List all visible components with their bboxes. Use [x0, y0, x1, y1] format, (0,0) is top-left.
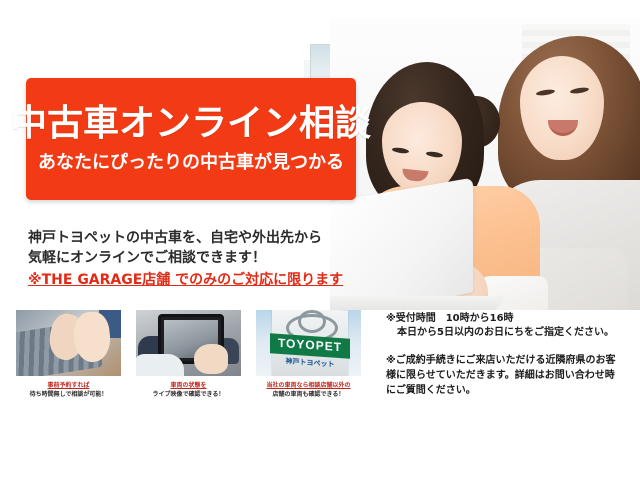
note-policy-line-3: にご質問ください。	[386, 383, 630, 398]
feature-item-other-stores: TOYOPET 神戸トヨペット 当社の車両なら相談店舗以外の 店舗の車両も確認で…	[256, 310, 361, 399]
staff-arm	[136, 354, 184, 376]
staff-hand	[194, 344, 228, 374]
feature-item-reservation: 事前予約すれば 待ち時間無しで相談が可能！	[16, 310, 121, 399]
feature-item-live-video: 車両の状態を ライブ映像で確認できる！	[136, 310, 241, 399]
feature-caption-other-stores: 当社の車両なら相談店舗以外の 店舗の車両も確認できる！	[256, 381, 361, 399]
feature-caption-bottom: 店舗の車両も確認できる！	[256, 390, 361, 399]
description-line-2: 気軽にオンラインでご相談できます！	[28, 248, 348, 268]
description-block: 神戸トヨペットの中古車を、自宅や外出先から 気軽にオンラインでご相談できます！ …	[28, 228, 348, 291]
advertisement-page: 中古車オンライン相談 あなたにぴったりの中古車が見つかる 神戸トヨペットの中古車…	[0, 0, 640, 480]
feature-caption-top: 車両の状態を	[136, 381, 241, 390]
headline-banner: 中古車オンライン相談 あなたにぴったりの中古車が見つかる	[26, 78, 356, 200]
hero-photo-girl-and-woman-with-laptop	[330, 18, 640, 310]
note-hours-line-2: 本日から5日以内のお日にちをご指定ください。	[386, 326, 630, 340]
feature-caption-bottom: ライブ映像で確認できる！	[136, 390, 241, 399]
feature-caption-reservation: 事前予約すれば 待ち時間無しで相談が可能！	[16, 381, 121, 399]
note-policy-line-1: ※ご成約手続きにご来店いただける近隣府県のお客	[386, 353, 630, 368]
feature-caption-bottom: 待ち時間無しで相談が可能！	[16, 390, 121, 399]
banner-subtitle: あなたにぴったりの中古車が見つかる	[38, 154, 344, 172]
banner-title: 中古車オンライン相談	[11, 106, 371, 142]
woman-face	[520, 56, 604, 160]
feature-thumbnail-list: 事前予約すれば 待ち時間無しで相談が可能！ 車両の状態を ライブ映像で確認できる…	[16, 310, 362, 399]
feature-image-toyopet-sign: TOYOPET 神戸トヨペット	[256, 310, 361, 376]
notes-block: ※受付時間 10時から16時 本日から5日以内のお日にちをご指定ください。 ※ご…	[386, 312, 630, 398]
note-policy: ※ご成約手続きにご来店いただける近隣府県のお客 様に限らせていただきます。詳細は…	[386, 353, 630, 398]
description-restriction-note: ※THE GARAGE店舗 でのみのご対応に限ります	[28, 269, 348, 291]
feature-caption-top: 当社の車両なら相談店舗以外の	[256, 381, 361, 390]
description-line-1: 神戸トヨペットの中古車を、自宅や外出先から	[28, 228, 348, 248]
feature-image-tablet-cars	[136, 310, 241, 376]
note-policy-line-2: 様に限らせていただきます。詳細はお問い合わせ時	[386, 368, 630, 383]
note-hours-line-1: ※受付時間 10時から16時	[386, 312, 630, 326]
toyota-logo-inner-icon	[298, 310, 326, 333]
feature-caption-top: 事前予約すれば	[16, 381, 121, 390]
laptop-base	[330, 296, 506, 310]
feature-caption-live-video: 車両の状態を ライブ映像で確認できる！	[136, 381, 241, 399]
feature-image-hands-typing	[16, 310, 121, 376]
